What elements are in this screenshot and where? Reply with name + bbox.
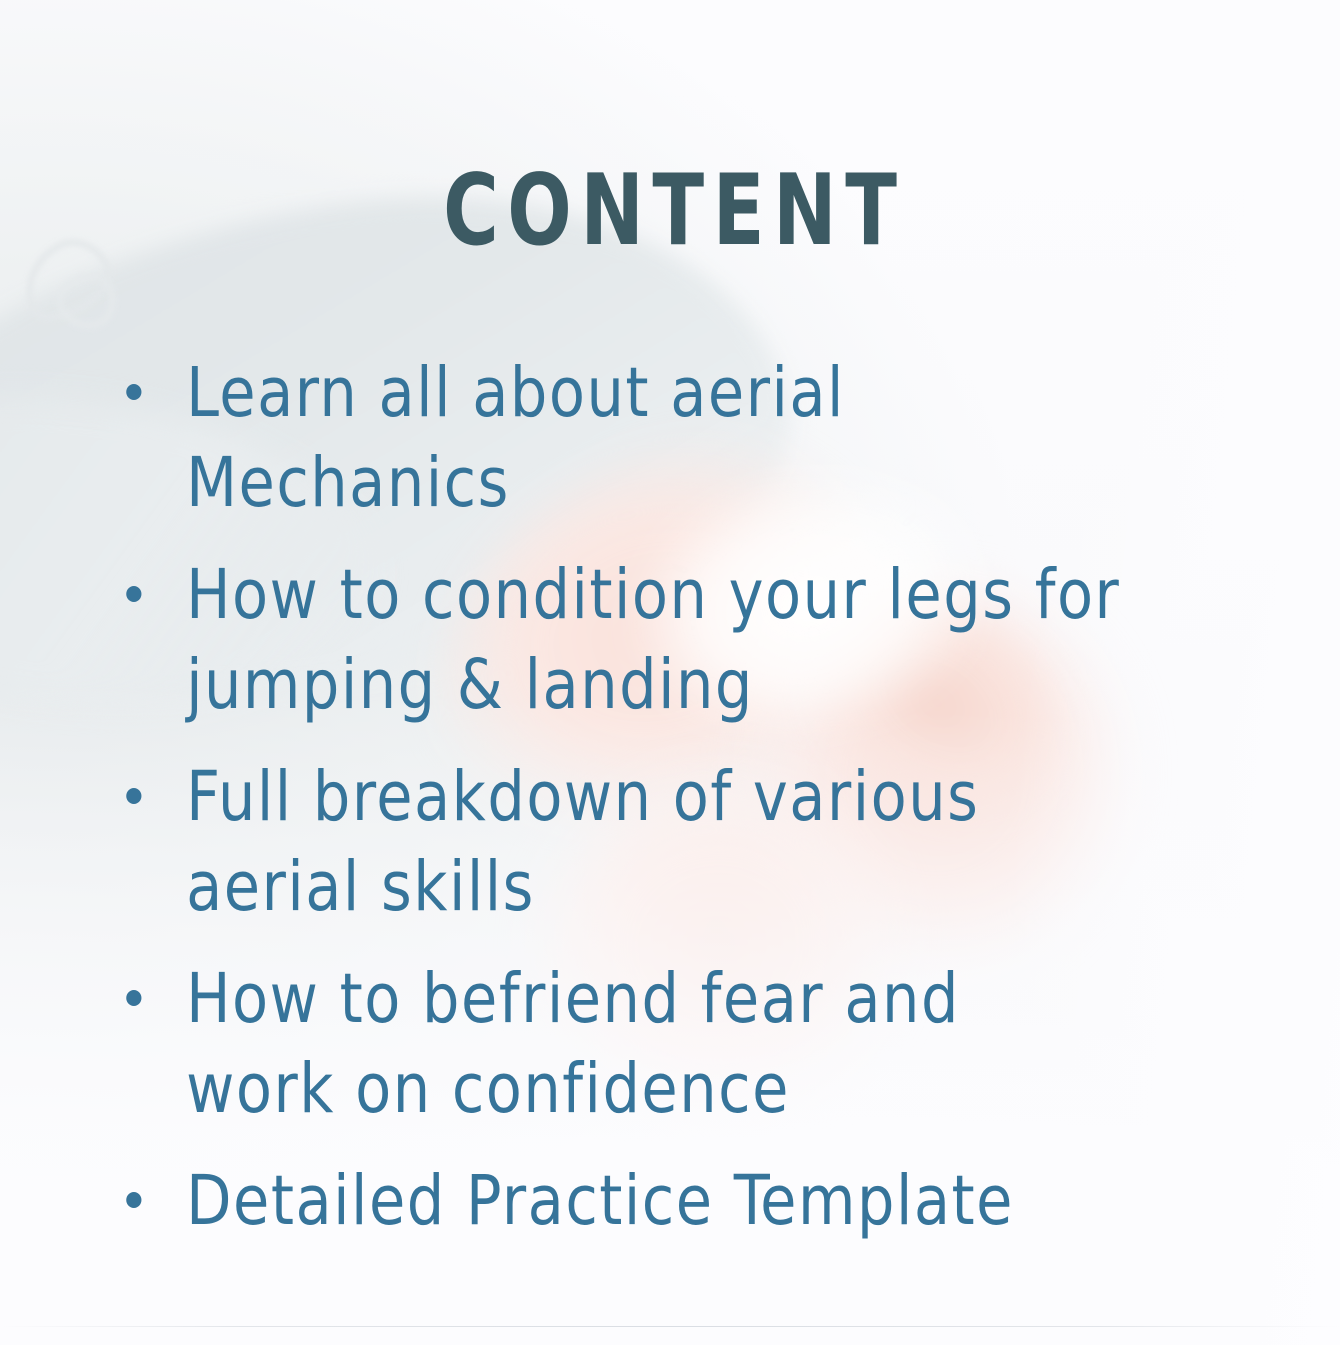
page-title: CONTENT bbox=[94, 162, 1246, 260]
bullet-dot-icon bbox=[126, 586, 141, 602]
list-item: How to befriend fear and work on confide… bbox=[112, 954, 1129, 1134]
slide-content: CONTENT Learn all about aerial Mechanics… bbox=[0, 0, 1340, 1345]
list-item-label: How to condition your legs for jumping &… bbox=[186, 550, 1128, 730]
list-item: Learn all about aerial Mechanics bbox=[112, 348, 1129, 528]
list-item: How to condition your legs for jumping &… bbox=[112, 550, 1129, 730]
content-bullet-list: Learn all about aerial Mechanics How to … bbox=[112, 348, 1182, 1246]
bullet-dot-icon bbox=[126, 990, 141, 1006]
list-item: Detailed Practice Template bbox=[112, 1156, 1129, 1246]
bullet-dot-icon bbox=[126, 384, 141, 400]
bullet-dot-icon bbox=[126, 788, 141, 804]
list-item-label: Learn all about aerial Mechanics bbox=[186, 348, 1128, 528]
list-item: Full breakdown of various aerial skills bbox=[112, 752, 1129, 932]
bullet-dot-icon bbox=[126, 1192, 141, 1208]
content-slide: CONTENT Learn all about aerial Mechanics… bbox=[0, 0, 1340, 1345]
list-item-label: Detailed Practice Template bbox=[186, 1156, 1128, 1246]
list-item-label: How to befriend fear and work on confide… bbox=[186, 954, 1128, 1134]
list-item-label: Full breakdown of various aerial skills bbox=[186, 752, 1128, 932]
